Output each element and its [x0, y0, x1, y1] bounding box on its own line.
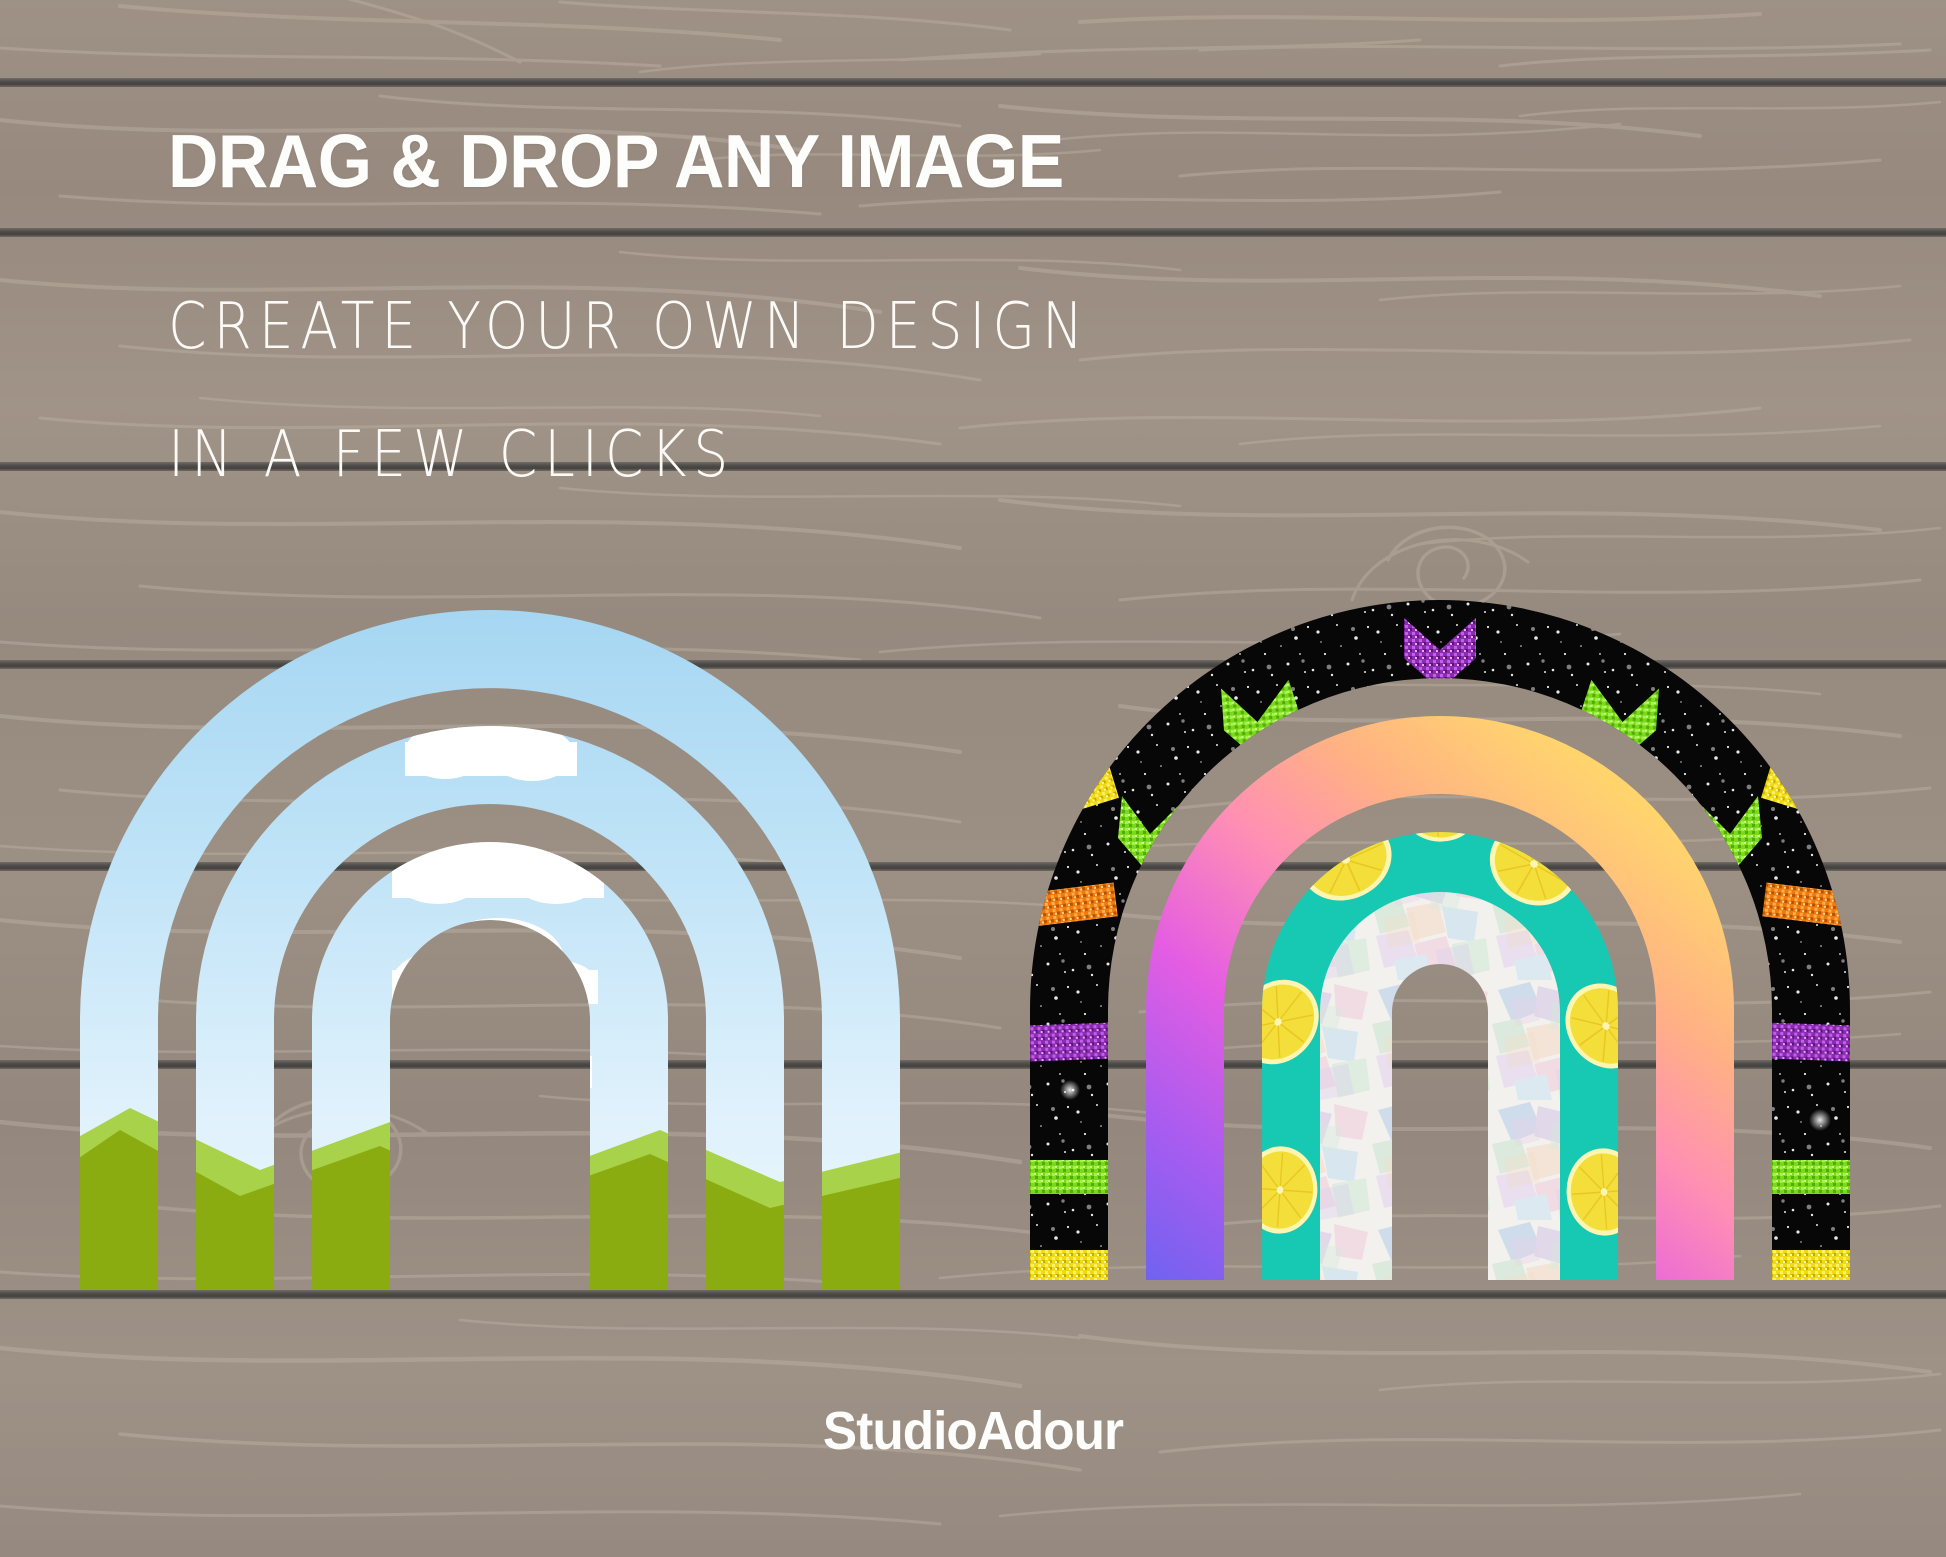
sky-landscape-rainbow [60, 630, 920, 1290]
listing-image-canvas: DRAG & DROP ANY IMAGE CREATE YOUR OWN DE… [0, 0, 1946, 1557]
page-subheadline-line-1: CREATE YOUR OWN DESIGN [168, 290, 1090, 364]
plank-divider [0, 228, 1946, 237]
brand-logo-text: StudioAdour [49, 1400, 1898, 1462]
page-headline: DRAG & DROP ANY IMAGE [168, 118, 1064, 204]
mixed-texture-rainbow [1010, 620, 1870, 1280]
page-subheadline-line-2: IN A FEW CLICKS [168, 418, 735, 492]
landscape-arch-bands [20, 590, 980, 1390]
plank-divider [0, 1290, 1946, 1299]
plank-divider [0, 78, 1946, 87]
